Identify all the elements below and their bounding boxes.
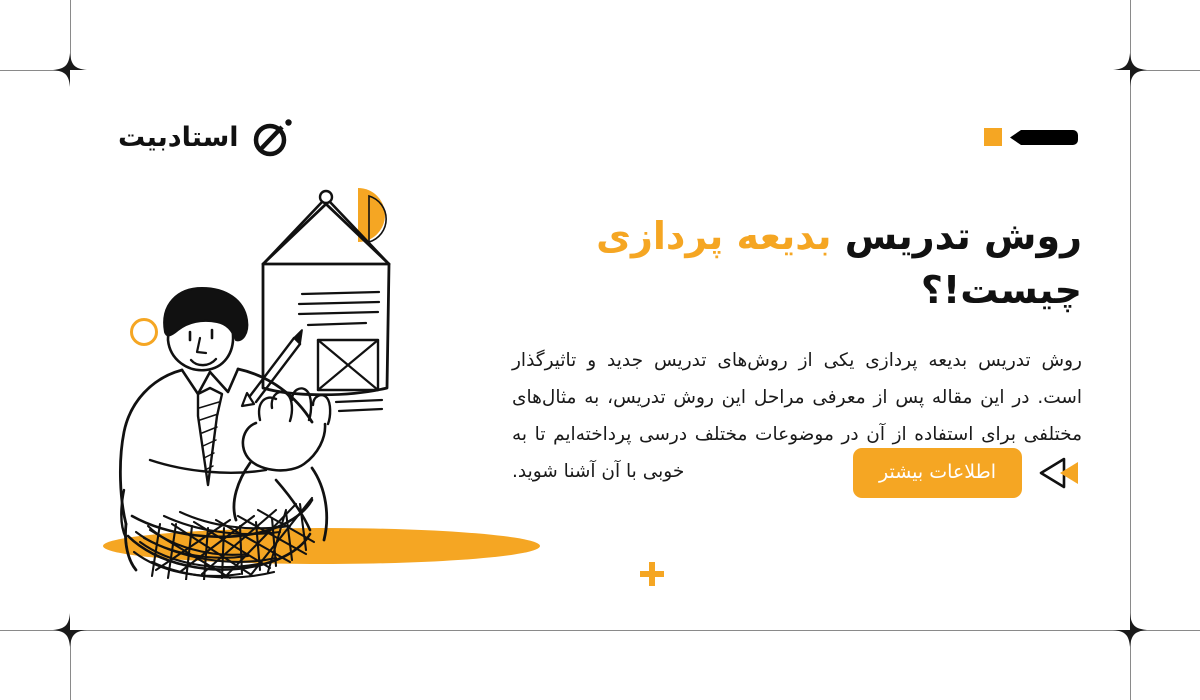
orange-square-icon — [984, 128, 1002, 146]
cta-row: اطلاعات بیشتر — [853, 448, 1082, 498]
top-right-decoration — [984, 128, 1082, 146]
brand-logo[interactable]: استادبیت — [118, 114, 295, 160]
crop-line-vertical-right — [1130, 0, 1131, 700]
headline-part2: چیست!؟ — [921, 268, 1082, 312]
double-left-triangle-arrow-icon[interactable] — [1038, 456, 1082, 490]
orange-plus-icon — [640, 562, 664, 586]
brand-wordmark: استادبیت — [118, 124, 239, 151]
more-info-button[interactable]: اطلاعات بیشتر — [853, 448, 1022, 498]
page-title: روش تدریس بدیعه پردازی چیست!؟ — [512, 210, 1082, 318]
crop-line-horizontal-bottom — [0, 630, 1200, 631]
left-arrow-bar-icon — [1010, 129, 1082, 146]
slashed-circle-logo-icon — [249, 114, 295, 160]
headline-part1: روش تدریس — [832, 214, 1082, 258]
banner-card: استادبیت — [70, 70, 1130, 630]
man-holding-poster-illustration — [90, 180, 570, 580]
headline-highlight: بدیعه پردازی — [596, 214, 831, 258]
